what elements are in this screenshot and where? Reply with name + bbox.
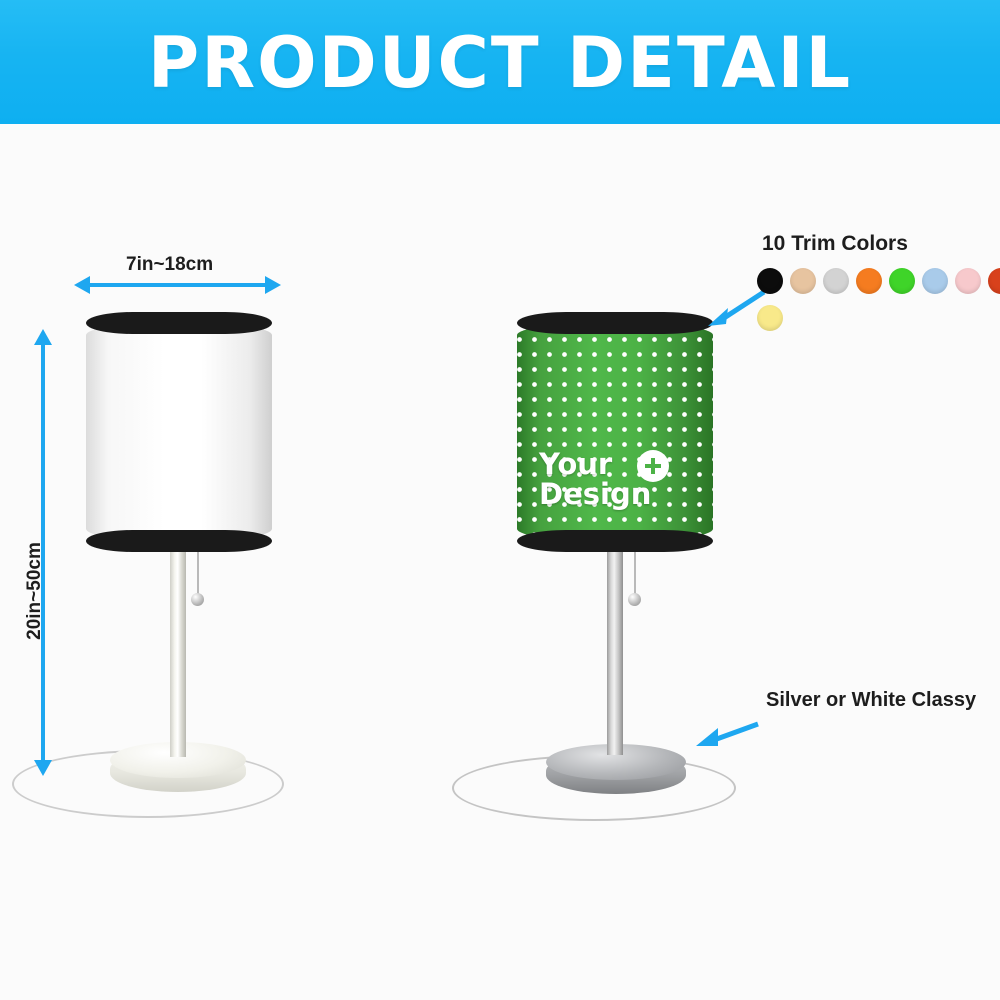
trim-swatch-red[interactable] bbox=[988, 268, 1000, 294]
header-banner: PRODUCT DETAIL bbox=[0, 0, 1000, 124]
width-arrow-left-head bbox=[74, 276, 90, 294]
trim-swatch-orange[interactable] bbox=[856, 268, 882, 294]
lampshade-bottom-trim-left bbox=[86, 530, 272, 552]
lampshade-surface-white bbox=[86, 322, 272, 542]
base-finish-caption: Silver or White Classy bbox=[766, 689, 976, 712]
pull-chain-knob-left[interactable] bbox=[191, 593, 204, 606]
trim-swatch-black[interactable] bbox=[757, 268, 783, 294]
base-finish-pointer-arrow bbox=[692, 714, 762, 754]
lampshade-top-trim-right bbox=[517, 312, 713, 334]
height-arrow-top-head bbox=[34, 329, 52, 345]
page-title: PRODUCT DETAIL bbox=[148, 28, 852, 98]
plus-circle-icon bbox=[637, 450, 669, 482]
trim-swatch-row-2 bbox=[757, 305, 783, 331]
lamp-pole-left bbox=[170, 552, 186, 757]
lamp-pole-right bbox=[607, 552, 623, 755]
design-placeholder: Your Design bbox=[539, 450, 689, 509]
trim-swatch-green[interactable] bbox=[889, 268, 915, 294]
trim-swatch-row-1 bbox=[757, 268, 1000, 294]
trim-swatch-light-blue[interactable] bbox=[922, 268, 948, 294]
trim-colors-title: 10 Trim Colors bbox=[762, 232, 908, 256]
pull-chain-knob-right[interactable] bbox=[628, 593, 641, 606]
trim-swatch-yellow[interactable] bbox=[757, 305, 783, 331]
height-arrow-line bbox=[41, 343, 45, 763]
width-arrow-line bbox=[86, 283, 269, 287]
trim-swatch-light-gray[interactable] bbox=[823, 268, 849, 294]
lampshade-green: Your Design bbox=[517, 312, 713, 552]
trim-swatch-tan[interactable] bbox=[790, 268, 816, 294]
lampshade-surface-green: Your Design bbox=[517, 322, 713, 542]
lampshade-bottom-trim-right bbox=[517, 530, 713, 552]
lampshade-top-trim-left bbox=[86, 312, 272, 334]
lampshade-white bbox=[86, 312, 272, 552]
product-detail-canvas: PRODUCT DETAIL bbox=[0, 0, 1000, 1000]
width-arrow-right-head bbox=[265, 276, 281, 294]
design-line-2: Design bbox=[539, 480, 689, 510]
height-arrow-bottom-head bbox=[34, 760, 52, 776]
width-dimension-label: 7in~18cm bbox=[126, 254, 213, 276]
trim-swatch-pink[interactable] bbox=[955, 268, 981, 294]
